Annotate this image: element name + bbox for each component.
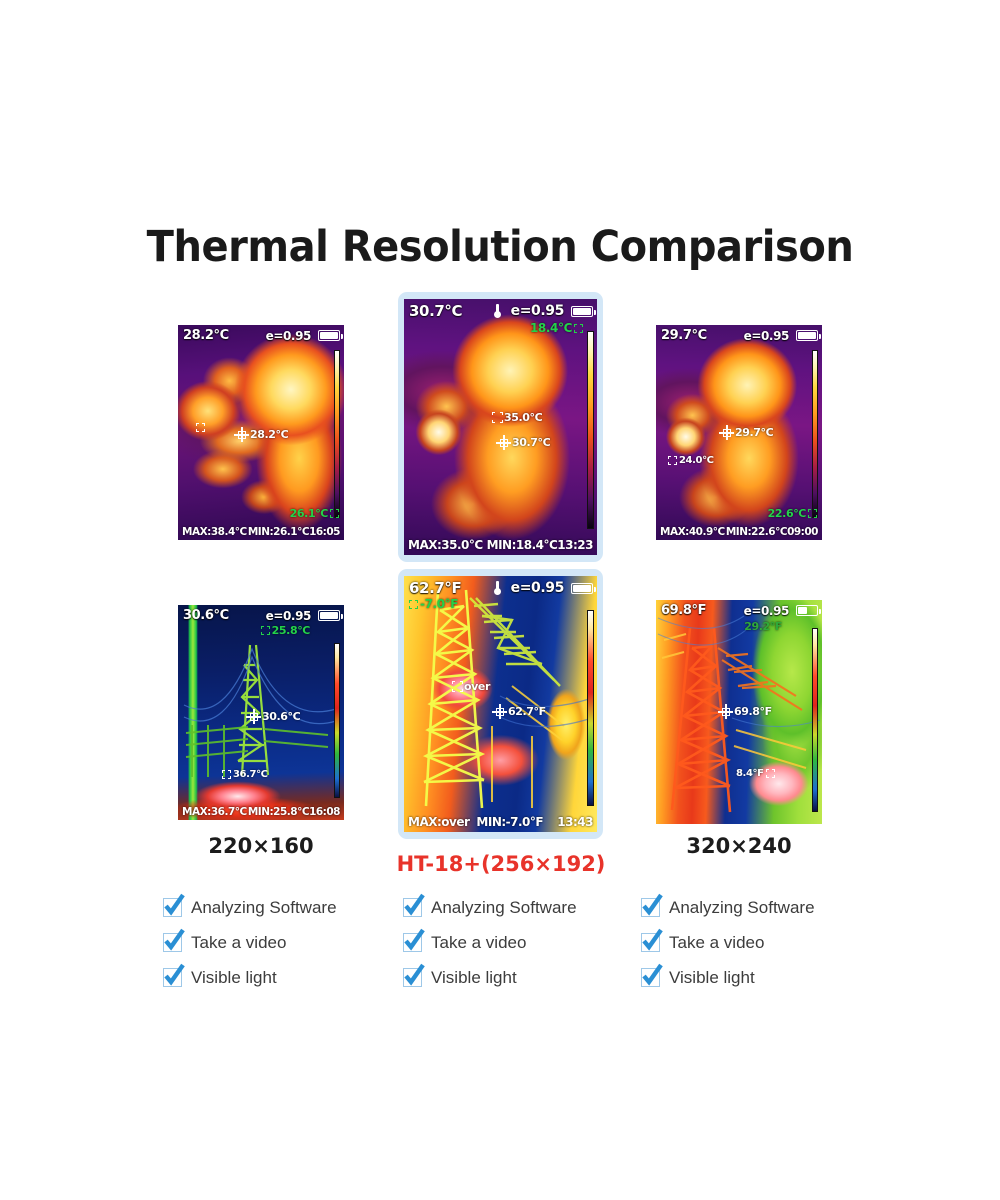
highlight-frame-bottom-center: 62.7°F e=0.95 -7.0°F over <box>398 569 603 839</box>
osd-bottom-bar-top-left: MAX:38.4°C MIN:26.1°C 16:05 <box>178 523 344 540</box>
device-row-bottom: 30.6°C e=0.95 25.8°C 30.6°C <box>0 567 1000 837</box>
min-temp-marker-bottom-left: 25.8°C <box>261 624 310 637</box>
device-card-bottom-left[interactable]: 30.6°C e=0.95 25.8°C 30.6°C <box>178 605 344 820</box>
center-crosshair-reading: 69.8°F <box>718 704 772 719</box>
time-readout: 13:23 <box>557 538 593 552</box>
resolution-label-center: HT-18+(256×192) <box>372 852 630 876</box>
feature-row[interactable]: Analyzing Software <box>163 890 337 925</box>
spot-marker-icon <box>668 456 677 465</box>
device-screen-top-center[interactable]: 30.7°C e=0.95 18.4°C 35.0°C <box>404 299 597 555</box>
device-screen-bottom-right[interactable]: 69.8°F e=0.95 29.2°F 69.8°F 8.4°F <box>656 600 822 824</box>
emissivity-readout: e=0.95 <box>266 329 311 343</box>
color-scale-bar <box>587 610 594 806</box>
battery-icon <box>318 330 340 341</box>
thermometer-icon <box>494 581 501 595</box>
feature-row[interactable]: Visible light <box>163 960 337 995</box>
feature-label: Visible light <box>669 968 755 988</box>
min-marker-value: 25.8°C <box>272 624 310 637</box>
checkbox-checked-icon[interactable] <box>403 898 422 917</box>
max-spot-reading-bottom-center: over <box>452 680 490 693</box>
device-card-top-center[interactable]: 30.7°C e=0.95 18.4°C 35.0°C <box>398 292 603 562</box>
center-temp-readout: 62.7°F <box>409 579 461 597</box>
color-scale-bar <box>334 643 340 798</box>
spot-marker-icon <box>492 412 503 423</box>
device-screen-top-left[interactable]: 28.2°C e=0.95 28.2°C 26.1°C <box>178 325 344 540</box>
battery-icon <box>571 583 593 594</box>
max-readout: MAX:over <box>408 815 469 829</box>
spot-marker <box>196 423 205 432</box>
checkbox-checked-icon[interactable] <box>641 933 660 952</box>
min-marker-icon <box>330 509 339 518</box>
center-crosshair-reading-top-center: 30.7°C <box>496 435 550 450</box>
device-comparison-grid: 28.2°C e=0.95 28.2°C 26.1°C <box>0 292 1000 837</box>
resolution-label-left: 220×160 <box>178 834 344 858</box>
time-readout: 13:43 <box>557 815 593 829</box>
osd-top-bar-bottom-left: 30.6°C e=0.95 <box>178 605 344 625</box>
min-marker-value: 26.1°C <box>290 507 328 520</box>
battery-icon <box>796 330 818 341</box>
feature-label: Analyzing Software <box>191 898 337 918</box>
feature-label: Visible light <box>431 968 517 988</box>
min-marker-value: 29.2°F <box>744 620 782 633</box>
checkbox-checked-icon[interactable] <box>641 968 660 987</box>
battery-icon <box>796 605 818 616</box>
min-temp-marker-top-left: 26.1°C <box>290 507 339 520</box>
resolution-label-right: 320×240 <box>656 834 822 858</box>
thermal-resolution-comparison-page: Thermal Resolution Comparison 28.2°C e=0… <box>0 0 1000 1200</box>
device-screen-bottom-center[interactable]: 62.7°F e=0.95 -7.0°F over <box>404 576 597 832</box>
crosshair-value: 69.8°F <box>734 705 772 718</box>
min-readout: MIN:18.4°C <box>487 538 558 552</box>
spot-value: 8.4°F <box>736 768 764 779</box>
min-marker-value: -7.0°F <box>420 597 458 611</box>
time-readout: 09:00 <box>787 526 818 538</box>
max-readout: MAX:36.7°C <box>182 806 247 818</box>
device-screen-top-right[interactable]: 29.7°C e=0.95 29.7°C 24.0°C 22.6°C <box>656 325 822 540</box>
min-marker-icon <box>574 324 583 333</box>
emissivity-readout: e=0.95 <box>511 303 564 319</box>
color-scale-bar <box>812 628 818 812</box>
min-marker-icon <box>808 509 817 518</box>
center-temp-readout: 69.8°F <box>661 603 706 618</box>
battery-icon <box>571 306 593 317</box>
max-readout: MAX:35.0°C <box>408 538 483 552</box>
center-temp-readout: 28.2°C <box>183 328 229 343</box>
device-card-bottom-right[interactable]: 69.8°F e=0.95 29.2°F 69.8°F 8.4°F <box>656 600 822 824</box>
min-readout: MIN:-7.0°F <box>476 815 543 829</box>
center-temp-readout: 30.7°C <box>409 302 462 320</box>
crosshair-value: 29.7°C <box>735 426 773 439</box>
osd-bottom-bar-top-right: MAX:40.9°C MIN:22.6°C 09:00 <box>656 523 822 540</box>
device-card-top-left[interactable]: 28.2°C e=0.95 28.2°C 26.1°C <box>178 325 344 540</box>
checkbox-checked-icon[interactable] <box>403 968 422 987</box>
emissivity-readout: e=0.95 <box>744 329 789 343</box>
feature-row[interactable]: Take a video <box>403 925 577 960</box>
max-readout: MAX:40.9°C <box>660 526 725 538</box>
thermometer-icon <box>494 304 501 318</box>
spot-value: over <box>464 680 490 693</box>
osd-bottom-bar-bottom-left: MAX:36.7°C MIN:25.8°C 16:08 <box>178 803 344 820</box>
min-temp-marker-top-center: 18.4°C <box>530 321 583 335</box>
color-scale-bar <box>334 350 340 518</box>
feature-label: Take a video <box>191 933 286 953</box>
feature-label: Take a video <box>669 933 764 953</box>
checkbox-checked-icon[interactable] <box>403 933 422 952</box>
spot-marker-icon <box>766 769 775 778</box>
min-temp-marker-top-right: 22.6°C <box>768 507 817 520</box>
crosshair-icon <box>492 704 507 719</box>
osd-bottom-bar-top-center: MAX:35.0°C MIN:18.4°C 13:23 <box>404 535 597 555</box>
device-card-top-right[interactable]: 29.7°C e=0.95 29.7°C 24.0°C 22.6°C <box>656 325 822 540</box>
spot-marker-reading: 36.7°C <box>222 769 268 780</box>
time-readout: 16:08 <box>309 806 340 818</box>
device-screen-bottom-left[interactable]: 30.6°C e=0.95 25.8°C 30.6°C <box>178 605 344 820</box>
highlight-frame-top-center: 30.7°C e=0.95 18.4°C 35.0°C <box>398 292 603 562</box>
crosshair-icon <box>496 435 511 450</box>
color-scale-bar <box>587 331 594 529</box>
feature-label: Take a video <box>431 933 526 953</box>
crosshair-icon <box>234 427 249 442</box>
max-readout: MAX:38.4°C <box>182 526 247 538</box>
spot-marker-icon <box>222 770 231 779</box>
feature-label: Analyzing Software <box>431 898 577 918</box>
osd-top-bar-top-left: 28.2°C e=0.95 <box>178 325 344 345</box>
feature-label: Analyzing Software <box>669 898 815 918</box>
feature-list-left: Analyzing Software Take a video Visible … <box>163 890 337 995</box>
osd-top-bar-bottom-right: 69.8°F e=0.95 <box>656 600 822 620</box>
device-card-bottom-center[interactable]: 62.7°F e=0.95 -7.0°F over <box>398 569 603 839</box>
resolution-label-row: 220×160 HT-18+(256×192) 320×240 <box>0 834 1000 868</box>
feature-list-right: Analyzing Software Take a video Visible … <box>641 890 815 995</box>
emissivity-readout: e=0.95 <box>744 604 789 618</box>
checkbox-checked-icon[interactable] <box>163 898 182 917</box>
checkbox-checked-icon[interactable] <box>641 898 660 917</box>
min-marker-value: 18.4°C <box>530 321 572 335</box>
crosshair-icon <box>719 425 734 440</box>
thermal-image-top-center <box>404 299 597 555</box>
crosshair-value: 28.2°C <box>250 428 288 441</box>
center-crosshair-reading-bottom-center: 62.7°F <box>492 704 546 719</box>
checkbox-checked-icon[interactable] <box>163 933 182 952</box>
feature-row[interactable]: Analyzing Software <box>403 890 577 925</box>
battery-icon <box>318 610 340 621</box>
crosshair-value: 62.7°F <box>508 705 546 718</box>
min-readout: MIN:26.1°C <box>248 526 309 538</box>
min-temp-marker-bottom-right: 29.2°F <box>744 620 782 633</box>
osd-top-bar-top-right: 29.7°C e=0.95 <box>656 325 822 345</box>
crosshair-value: 30.6°C <box>262 710 300 723</box>
time-readout: 16:05 <box>309 526 340 538</box>
feature-row[interactable]: Analyzing Software <box>641 890 815 925</box>
spot-value: 24.0°C <box>679 455 714 466</box>
emissivity-readout: e=0.95 <box>266 609 311 623</box>
min-marker-icon <box>409 600 418 609</box>
spot-marker-reading: 24.0°C <box>668 455 714 466</box>
crosshair-value: 30.7°C <box>512 436 550 449</box>
center-crosshair-reading: 28.2°C <box>234 427 288 442</box>
feature-row[interactable]: Visible light <box>641 960 815 995</box>
spot-value: 35.0°C <box>504 411 542 424</box>
osd-top-bar-top-center: 30.7°C e=0.95 <box>404 299 597 322</box>
checkbox-checked-icon[interactable] <box>163 968 182 987</box>
spot-value: 36.7°C <box>233 769 268 780</box>
crosshair-icon <box>718 704 733 719</box>
feature-row[interactable]: Visible light <box>403 960 577 995</box>
center-crosshair-reading: 29.7°C <box>719 425 773 440</box>
page-title: Thermal Resolution Comparison <box>35 222 965 272</box>
feature-row[interactable]: Take a video <box>163 925 337 960</box>
color-scale-bar <box>812 350 818 518</box>
min-marker-icon <box>261 626 270 635</box>
emissivity-readout: e=0.95 <box>511 580 564 596</box>
osd-top-bar-bottom-center: 62.7°F e=0.95 <box>404 576 597 599</box>
crosshair-icon <box>246 709 261 724</box>
center-temp-readout: 30.6°C <box>183 608 229 623</box>
osd-bottom-bar-bottom-center: MAX:over MIN:-7.0°F 13:43 <box>404 812 597 832</box>
min-readout: MIN:25.8°C <box>248 806 309 818</box>
spot-marker-icon <box>452 681 463 692</box>
spot-marker-icon <box>196 423 205 432</box>
device-row-top: 28.2°C e=0.95 28.2°C 26.1°C <box>0 292 1000 567</box>
center-crosshair-reading: 30.6°C <box>246 709 300 724</box>
center-temp-readout: 29.7°C <box>661 328 707 343</box>
feature-row[interactable]: Take a video <box>641 925 815 960</box>
feature-label: Visible light <box>191 968 277 988</box>
min-marker-value: 22.6°C <box>768 507 806 520</box>
min-readout: MIN:22.6°C <box>726 526 787 538</box>
min-temp-marker-bottom-center: -7.0°F <box>409 597 458 611</box>
max-spot-reading-top-center: 35.0°C <box>492 411 542 424</box>
feature-list-center: Analyzing Software Take a video Visible … <box>403 890 577 995</box>
spot-marker-reading: 8.4°F <box>736 768 775 779</box>
